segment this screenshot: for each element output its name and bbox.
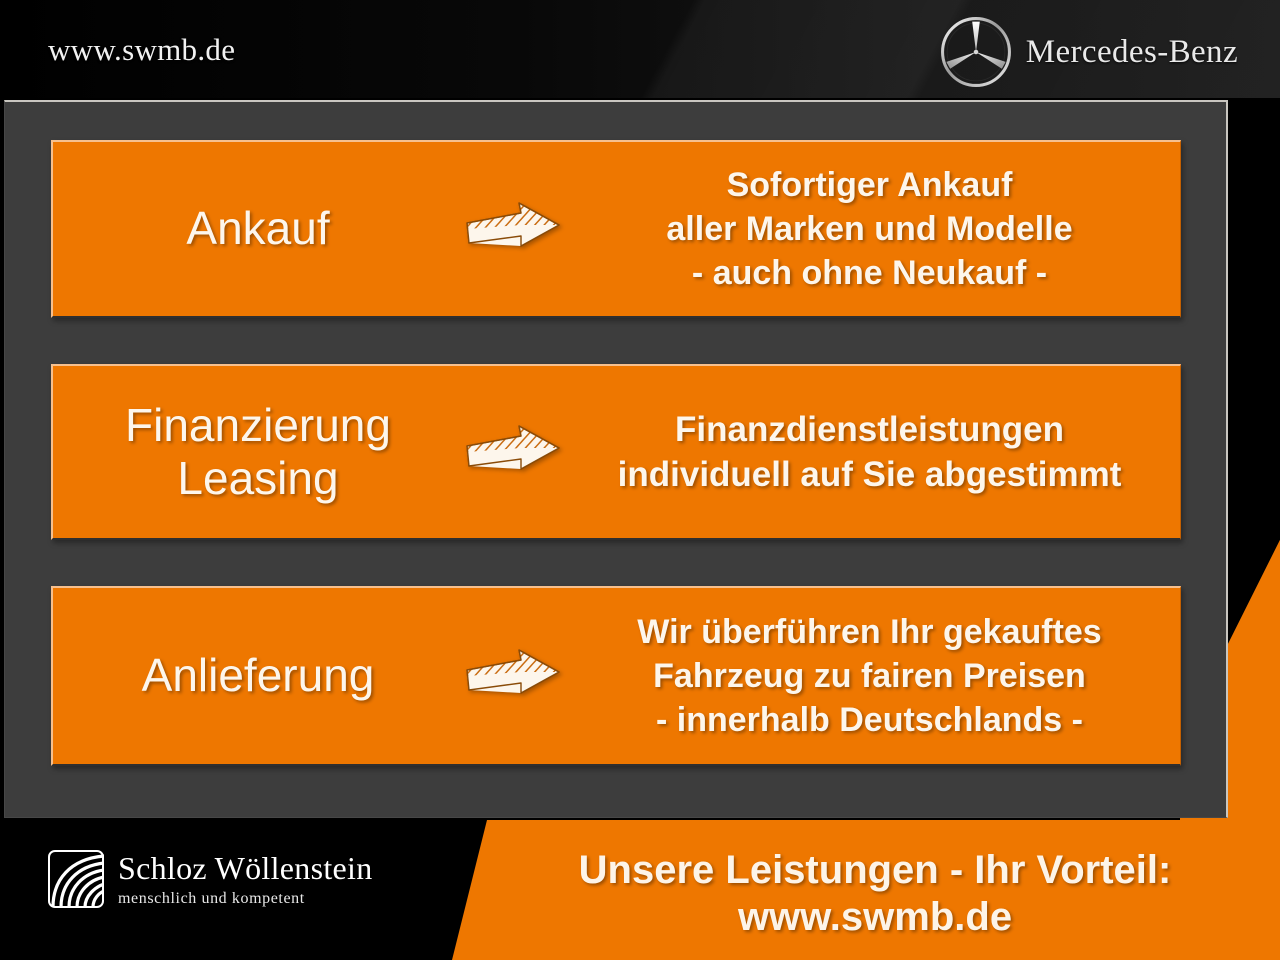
header-website-url: www.swmb.de [48, 32, 235, 68]
arrow-cell-1 [453, 199, 573, 259]
mercedes-star-icon [938, 14, 1014, 90]
dealer-name: Schloz Wöllenstein [118, 852, 373, 886]
service-desc-line: aller Marken und Modelle [573, 207, 1166, 251]
footer-headline: Unsere Leistungen - Ihr Vorteil: [579, 847, 1172, 894]
sketch-arrow-right-icon [463, 422, 563, 482]
services-panel: Ankauf [4, 100, 1228, 818]
service-desc-line: Wir überführen Ihr gekauftes [573, 610, 1166, 654]
sketch-arrow-right-icon [463, 646, 563, 706]
service-title-ankauf: Ankauf [53, 202, 453, 255]
arrow-cell-2 [453, 422, 573, 482]
service-title-line: Leasing [63, 452, 453, 505]
service-row-finanzierung-leasing[interactable]: Finanzierung Leasing [51, 364, 1181, 540]
service-desc-line: - innerhalb Deutschlands - [573, 698, 1166, 742]
arrow-cell-3 [453, 646, 573, 706]
service-title-finanzierung-leasing: Finanzierung Leasing [53, 399, 453, 506]
services-row-list: Ankauf [5, 102, 1226, 817]
sketch-arrow-right-icon [463, 199, 563, 259]
footer-headline-block: Unsere Leistungen - Ihr Vorteil: www.swm… [470, 828, 1280, 960]
service-row-ankauf[interactable]: Ankauf [51, 140, 1181, 318]
service-desc-line: individuell auf Sie abgestimmt [573, 452, 1166, 498]
mercedes-benz-logo: Mercedes-Benz [938, 14, 1238, 90]
schloz-woellenstein-logo: Schloz Wöllenstein menschlich und kompet… [48, 850, 373, 908]
slide-root: www.swmb.de [0, 0, 1280, 960]
service-desc-anlieferung: Wir überführen Ihr gekauftes Fahrzeug zu… [573, 610, 1180, 743]
service-desc-ankauf: Sofortiger Ankauf aller Marken und Model… [573, 163, 1180, 296]
service-desc-line: - auch ohne Neukauf - [573, 251, 1166, 295]
footer-website-url[interactable]: www.swmb.de [738, 894, 1012, 941]
service-title-anlieferung: Anlieferung [53, 649, 453, 702]
service-desc-line: Sofortiger Ankauf [573, 163, 1166, 207]
service-desc-line: Fahrzeug zu fairen Preisen [573, 654, 1166, 698]
header-bar: www.swmb.de [0, 0, 1280, 98]
service-desc-finanzierung-leasing: Finanzdienstleistungen individuell auf S… [573, 407, 1180, 498]
dealer-tagline: menschlich und kompetent [118, 890, 373, 908]
schloz-woellenstein-lines-icon [48, 850, 104, 908]
service-desc-line: Finanzdienstleistungen [573, 407, 1166, 453]
service-row-anlieferung[interactable]: Anlieferung [51, 586, 1181, 766]
schloz-woellenstein-text: Schloz Wöllenstein menschlich und kompet… [118, 850, 373, 908]
mercedes-benz-wordmark: Mercedes-Benz [1026, 34, 1238, 71]
service-title-line: Finanzierung [63, 399, 453, 452]
